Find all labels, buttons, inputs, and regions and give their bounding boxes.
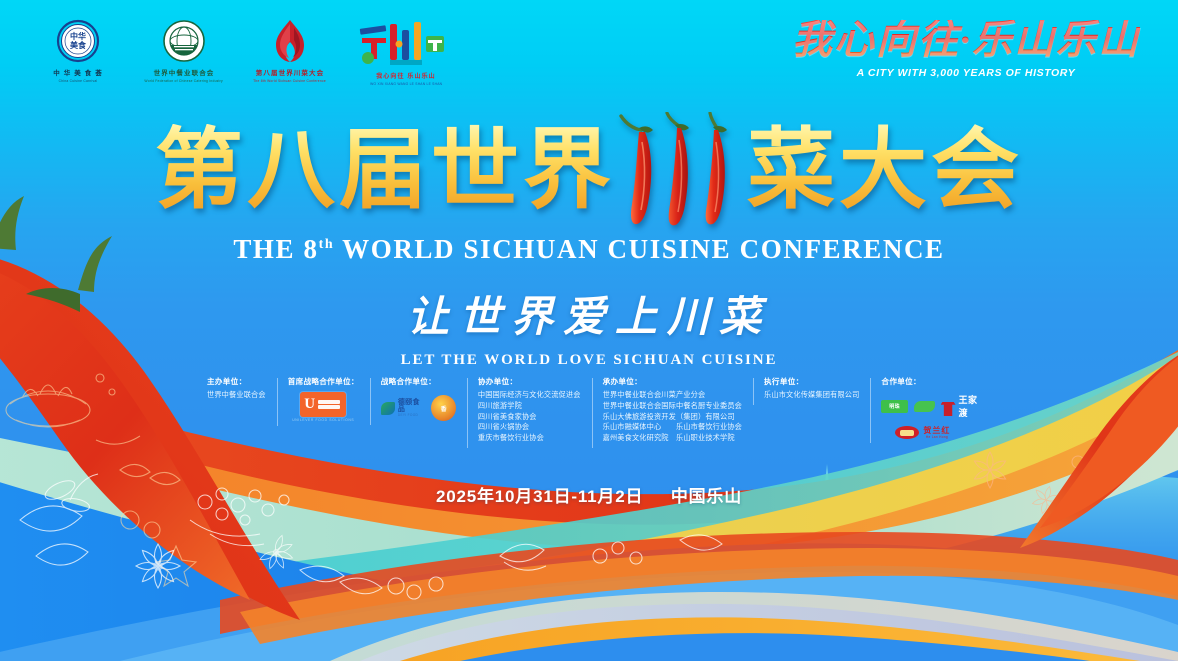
sichuan-spice-partner-logo: 香 bbox=[431, 395, 456, 421]
date-location-bar: 2025年10月31日-11月2日 中国乐山 bbox=[0, 482, 1178, 507]
logo-label-en: The 8th World Sichuan Cuisine Conference bbox=[254, 79, 327, 83]
org-logo-group: 德颐食品 DEYI FOOD 香 bbox=[381, 395, 456, 421]
wangjiadu-wordmark: 王家渡 bbox=[959, 393, 985, 419]
logo-label-cn: 第八届世界川菜大会 bbox=[256, 67, 324, 77]
city-slogan-en: A CITY WITH 3,000 YEARS OF HISTORY bbox=[792, 67, 1140, 79]
slogan-block: 让世界爱上川菜 LET THE WORLD LOVE SICHUAN CUISI… bbox=[0, 283, 1178, 369]
city-slogan-cn: 我心向往·乐山乐山 bbox=[792, 20, 1140, 60]
world-chinese-cuisine-federation-logo: 世界中餐业联合会 World Federation of Chinese Cat… bbox=[142, 18, 226, 83]
org-head: 战略合作单位： bbox=[381, 376, 456, 387]
org-line: 四川省火锅协会 bbox=[478, 422, 581, 433]
org-logo-group: U UNILEVER FOOD SOLUTIONS bbox=[288, 392, 359, 422]
org-line: 世界中餐业联合会川菜产业分会 bbox=[603, 390, 742, 401]
org-line: 乐山市文化传媒集团有限公司 bbox=[764, 390, 859, 401]
wangjiadu-mark-icon bbox=[941, 396, 956, 416]
logo-label-cn: 中 华 美 食 荟 bbox=[53, 67, 103, 77]
title-en-prefix: THE 8 bbox=[233, 234, 318, 264]
svg-text:美食: 美食 bbox=[70, 40, 87, 50]
org-line: 乐山市融媒体中心 乐山市餐饮行业协会 bbox=[603, 422, 742, 433]
slogan-cn: 让世界爱上川菜 bbox=[0, 283, 1178, 344]
unilever-sub-label: UNILEVER FOOD SOLUTIONS bbox=[292, 418, 354, 422]
globe-icon bbox=[162, 18, 206, 64]
china-food-festival-icon: 中华 美食 bbox=[56, 18, 100, 64]
org-logo-group-2: 贺兰红 He Lan Hong bbox=[895, 426, 985, 439]
logo-label-cn: 世界中餐业联合会 bbox=[154, 67, 215, 77]
svg-text:中华: 中华 bbox=[70, 31, 86, 41]
logo-label-en: China Cuisine Carnival bbox=[59, 79, 98, 83]
org-line: 四川旅游学院 bbox=[478, 401, 581, 412]
flame-icon bbox=[270, 18, 310, 64]
conference-flame-logo: 第八届世界川菜大会 The 8th World Sichuan Cuisine … bbox=[248, 18, 332, 83]
org-head: 协办单位： bbox=[478, 376, 581, 387]
leaf-icon bbox=[381, 402, 395, 415]
helanhong-name-cn: 贺兰红 bbox=[923, 427, 950, 435]
green-leaf-partner-logo bbox=[914, 401, 935, 412]
unilever-food-solutions-logo: U bbox=[300, 392, 346, 417]
org-logo-group: 明珠 王家渡 bbox=[881, 393, 985, 419]
title-cn-part2: 菜大会 bbox=[747, 126, 1023, 218]
org-head: 首席战略合作单位： bbox=[288, 376, 359, 387]
org-line: 重庆市餐饮行业协会 bbox=[478, 433, 581, 444]
org-line: 世界中餐业联合会国际中餐名厨专业委员会 bbox=[603, 401, 742, 412]
org-col-co-organizer: 协办单位： 中国国际经济与文化交流促进会 四川旅游学院 四川省美食家协会 四川省… bbox=[467, 376, 592, 444]
leshan-brand-icon bbox=[356, 18, 456, 68]
event-location: 中国乐山 bbox=[671, 487, 742, 506]
org-col-host: 主办单位： 世界中餐业联合会 bbox=[196, 376, 277, 401]
header-logo-row: 中华 美食 中 华 美 食 荟 China Cuisine Carnival bbox=[36, 18, 458, 86]
org-col-organizer: 承办单位： 世界中餐业联合会川菜产业分会 世界中餐业联合会国际中餐名厨专业委员会… bbox=[592, 376, 753, 444]
deyi-wordmark: 德颐食品 DEYI FOOD bbox=[398, 399, 425, 417]
logo-label-en: World Federation of Chinese Catering Ind… bbox=[145, 79, 223, 83]
org-line: 中国国际经济与文化交流促进会 bbox=[478, 390, 581, 401]
city-slogan: 我心向往·乐山乐山 A CITY WITH 3,000 YEARS OF HIS… bbox=[792, 20, 1140, 79]
organizer-strip: 主办单位： 世界中餐业联合会 首席战略合作单位： U UNILEVER FOOD… bbox=[196, 376, 996, 454]
wangjiadu-logo: 王家渡 bbox=[941, 393, 985, 419]
org-line: 世界中餐业联合会 bbox=[207, 390, 266, 401]
helanhong-wordmark: 贺兰红 He Lan Hong bbox=[923, 427, 950, 439]
org-line: 四川省美食家协会 bbox=[478, 412, 581, 423]
org-line: 乐山大佛旅游投资开发（集团）有限公司 bbox=[603, 412, 742, 423]
event-date: 2025年10月31日-11月2日 bbox=[436, 487, 643, 506]
title-en-rest: WORLD SICHUAN CUISINE CONFERENCE bbox=[334, 234, 944, 264]
logo-label-en: WO XIN XIANG WANG LE SHAN LE SHAN bbox=[370, 82, 442, 86]
org-col-strategic-partner: 战略合作单位： 德颐食品 DEYI FOOD 香 bbox=[370, 376, 467, 421]
unilever-u-icon: U bbox=[304, 397, 315, 412]
helanhong-logo: 贺兰红 He Lan Hong bbox=[895, 426, 950, 439]
china-food-festival-logo: 中华 美食 中 华 美 食 荟 China Cuisine Carnival bbox=[36, 18, 120, 83]
main-title-block: 第八届世界 bbox=[0, 124, 1178, 265]
org-col-partners: 合作单位： 明珠 王家渡 贺兰红 He Lan Hong bbox=[870, 376, 996, 439]
conference-poster: 中华 美食 中 华 美 食 荟 China Cuisine Carnival bbox=[0, 0, 1178, 661]
chili-3 bbox=[706, 113, 727, 224]
chili-character-川 bbox=[617, 124, 745, 220]
helanhong-name-en: He Lan Hong bbox=[926, 435, 948, 439]
deyi-food-logo: 德颐食品 DEYI FOOD bbox=[381, 399, 426, 417]
helanhong-mark-icon bbox=[895, 426, 919, 439]
org-line: 嘉州美食文化研究院 乐山职业技术学院 bbox=[603, 433, 742, 444]
main-title-cn: 第八届世界 bbox=[155, 124, 1023, 220]
chili-2 bbox=[667, 113, 689, 225]
org-col-chief-strategic-partner: 首席战略合作单位： U UNILEVER FOOD SOLUTIONS bbox=[277, 376, 370, 422]
unilever-wordmark bbox=[318, 400, 340, 409]
deyi-name-en: DEYI FOOD bbox=[398, 413, 425, 417]
logo-label-cn: 我心向往 乐山乐山 bbox=[376, 71, 436, 80]
org-head: 执行单位： bbox=[764, 376, 859, 387]
slogan-en: LET THE WORLD LOVE SICHUAN CUISINE bbox=[0, 352, 1178, 369]
org-head: 主办单位： bbox=[207, 376, 266, 387]
green-partner-logo: 明珠 bbox=[881, 400, 907, 413]
org-head: 合作单位： bbox=[881, 376, 985, 387]
title-en-ordinal: th bbox=[319, 237, 335, 252]
chili-1 bbox=[621, 116, 653, 224]
deyi-name-cn: 德颐食品 bbox=[398, 399, 425, 413]
leshan-city-brand-logo: 我心向往 乐山乐山 WO XIN XIANG WANG LE SHAN LE S… bbox=[354, 18, 458, 86]
main-title-en: THE 8th WORLD SICHUAN CUISINE CONFERENCE bbox=[0, 234, 1178, 265]
title-cn-part1: 第八届世界 bbox=[155, 126, 615, 218]
org-head: 承办单位： bbox=[603, 376, 742, 387]
org-col-executor: 执行单位： 乐山市文化传媒集团有限公司 bbox=[753, 376, 870, 401]
